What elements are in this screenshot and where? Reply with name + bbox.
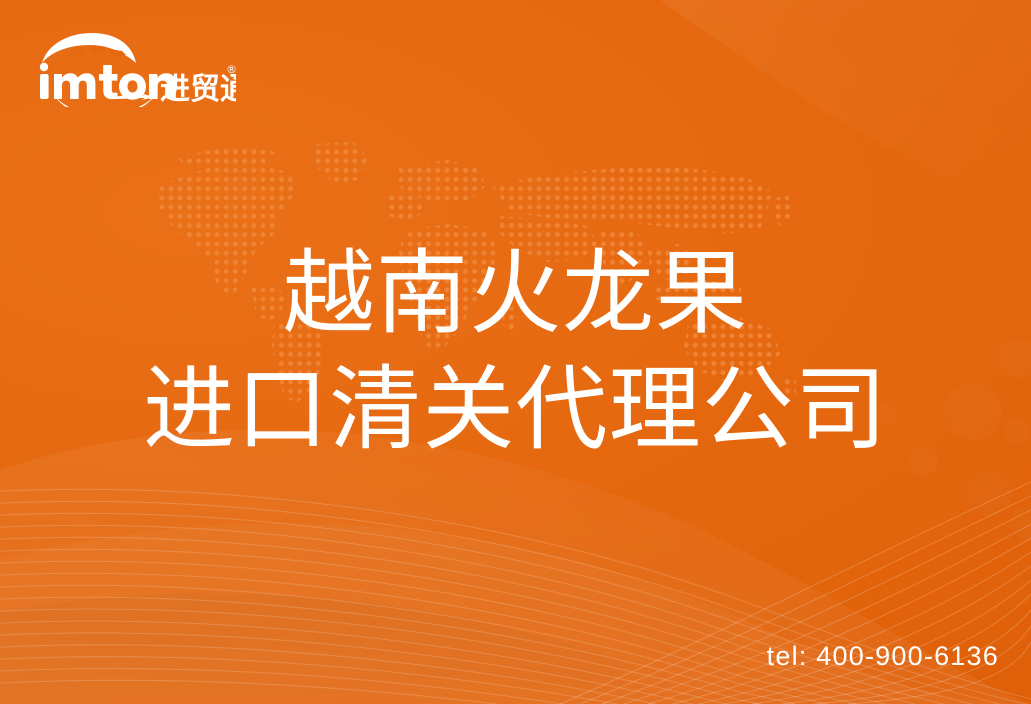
logo-trademark-symbol: ® xyxy=(226,63,236,76)
headline-line-2: 进口清关代理公司 xyxy=(0,352,1031,468)
headline-line-1: 越南火龙果 xyxy=(0,236,1031,352)
poster-canvas: 进贸通 ® 越南火龙果 进口清关代理公司 tel: 400-900-6136 xyxy=(0,0,1031,704)
poster-headline: 越南火龙果 进口清关代理公司 xyxy=(0,236,1031,468)
contact-phone[interactable]: tel: 400-900-6136 xyxy=(767,641,999,672)
logo-chinese-name: 进贸通 xyxy=(160,72,236,107)
imton-logo[interactable]: 进贸通 ® xyxy=(36,33,236,107)
